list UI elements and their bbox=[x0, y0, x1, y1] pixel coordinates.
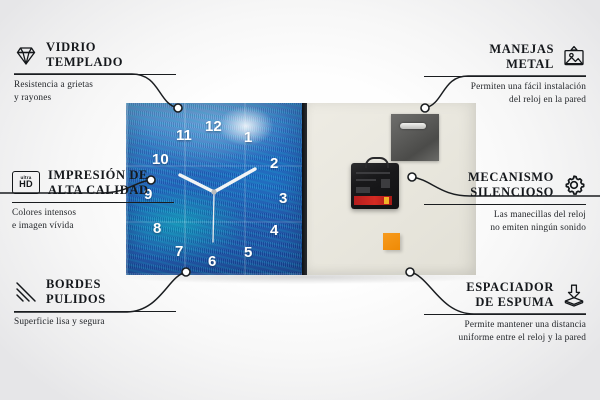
metal-hanger-plate bbox=[391, 114, 439, 161]
feature-manejas-metal[interactable]: MANEJAS METAL Permiten una fácil instala… bbox=[386, 42, 586, 107]
feature-desc-line2: e imagen vívida bbox=[12, 220, 212, 233]
mechanism-detail bbox=[356, 179, 376, 181]
feature-divider bbox=[424, 204, 586, 205]
feature-title-line1: ESPACIADOR bbox=[466, 280, 554, 295]
feature-desc-line1: Superficie lisa y segura bbox=[14, 316, 214, 329]
feature-title-line1: BORDES bbox=[46, 277, 106, 292]
feature-title-line2: ALTA CALIDAD bbox=[48, 183, 149, 198]
diamond-icon bbox=[14, 43, 38, 67]
feature-impresion-alta-calidad[interactable]: ultra HD IMPRESIÓN DE ALTA CALIDAD Color… bbox=[12, 168, 212, 233]
feature-desc-line2: y rayones bbox=[14, 92, 214, 105]
feature-desc-line2: uniforme entre el reloj y la pared bbox=[386, 332, 586, 345]
feature-vidrio-templado[interactable]: VIDRIO TEMPLADO Resistencia a grietas y … bbox=[14, 40, 214, 105]
product-infographic: 12 1 2 3 4 5 6 7 8 9 10 11 bbox=[0, 0, 600, 400]
feature-divider bbox=[424, 314, 586, 315]
feature-divider bbox=[14, 74, 176, 75]
hanging-frame-icon bbox=[562, 45, 586, 69]
feature-desc-line1: Permiten una fácil instalación bbox=[386, 81, 586, 94]
feature-espaciador-espuma[interactable]: ESPACIADOR DE ESPUMA Permite mantener un… bbox=[386, 280, 586, 345]
feature-title-line1: MANEJAS bbox=[489, 42, 554, 57]
feature-title-line2: METAL bbox=[489, 57, 554, 72]
mechanism-hook bbox=[365, 157, 389, 168]
feature-title-line2: SILENCIOSO bbox=[468, 185, 554, 200]
feature-desc-line2: del reloj en la pared bbox=[386, 94, 586, 107]
hanger-slot bbox=[400, 123, 426, 129]
feature-bordes-pulidos[interactable]: BORDES PULIDOS Superficie lisa y segura bbox=[14, 277, 214, 329]
down-arrow-stack-icon bbox=[562, 283, 586, 307]
ultra-hd-icon: ultra HD bbox=[12, 171, 40, 194]
feature-desc-line1: Resistencia a grietas bbox=[14, 79, 214, 92]
feature-title-line2: TEMPLADO bbox=[46, 55, 123, 70]
feature-title-line2: DE ESPUMA bbox=[466, 295, 554, 310]
feature-desc-line1: Colores intensos bbox=[12, 207, 212, 220]
feature-title-line1: MECANISMO bbox=[468, 170, 554, 185]
mechanism-detail bbox=[356, 187, 370, 193]
feature-divider bbox=[12, 202, 174, 203]
mechanism-detail bbox=[356, 172, 390, 174]
feature-title-line1: VIDRIO bbox=[46, 40, 123, 55]
feature-desc-line1: Permite mantener una distancia bbox=[386, 319, 586, 332]
polished-edge-icon bbox=[14, 280, 38, 304]
feature-desc-line1: Las manecillas del reloj bbox=[386, 209, 586, 222]
foam-spacer bbox=[383, 233, 400, 250]
feature-title-line2: PULIDOS bbox=[46, 292, 106, 307]
feature-mecanismo-silencioso[interactable]: MECANISMO SILENCIOSO Las manecillas del … bbox=[386, 170, 586, 235]
feature-title-line1: IMPRESIÓN DE bbox=[48, 168, 149, 183]
feature-divider bbox=[14, 311, 176, 312]
feature-desc-line2: no emiten ningún sonido bbox=[386, 222, 586, 235]
ultra-hd-icon-main: HD bbox=[19, 180, 33, 190]
feature-divider bbox=[424, 76, 586, 77]
gear-icon bbox=[562, 173, 586, 197]
